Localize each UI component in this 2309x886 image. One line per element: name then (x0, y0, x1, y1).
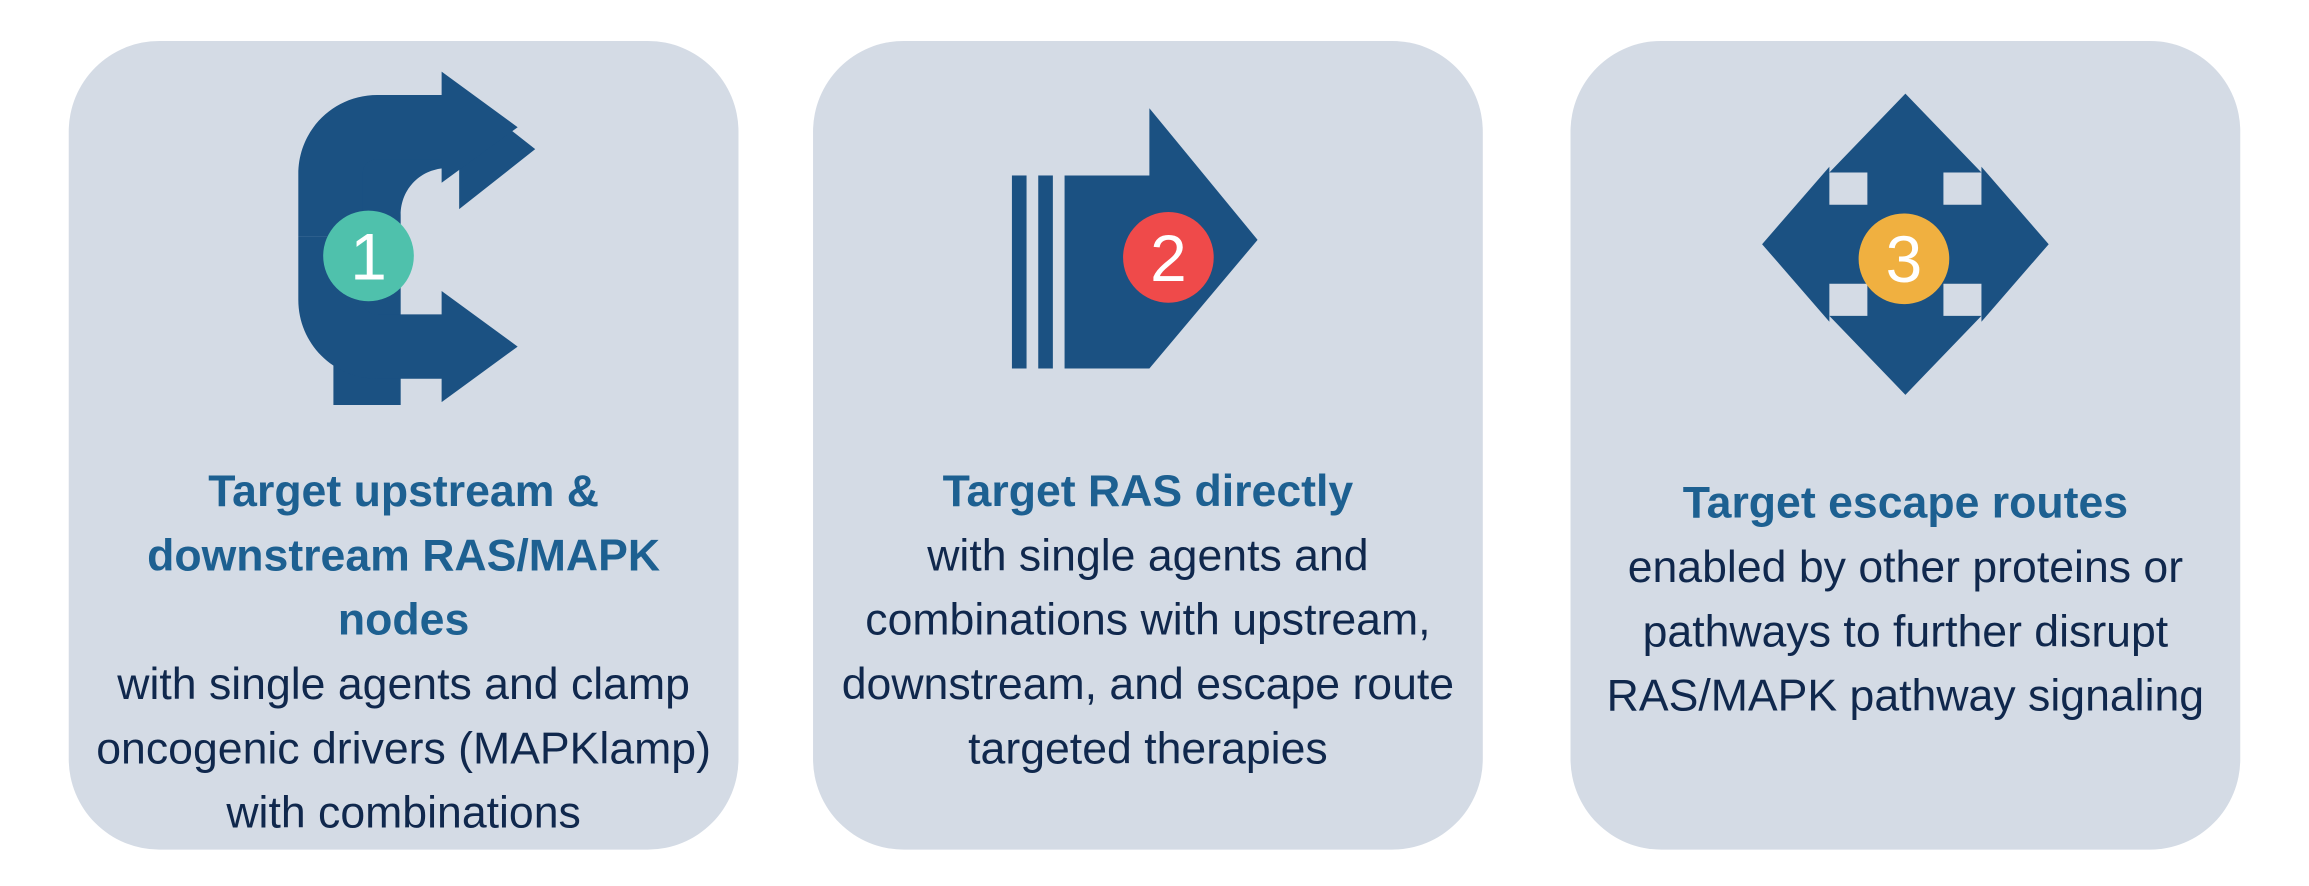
strategy-card-2: 2 Target RAS directly with single agents… (813, 41, 1483, 850)
card-3-body-line-2: pathways to further disrupt (1582, 600, 2228, 664)
card-2-body-line-2: combinations with upstream, (825, 588, 1471, 652)
card-2-text-block: Target RAS directly with single agents a… (813, 459, 1483, 781)
card-2-body-line-1: with single agents and (825, 524, 1471, 588)
card-2-body-line-4: targeted therapies (825, 717, 1471, 781)
card-1-step-number: 1 (350, 223, 387, 289)
card-1-body-line-1: with single agents and clamp (80, 652, 726, 716)
card-1-body-line-2: oncogenic drivers (MAPKlamp) (80, 717, 726, 781)
card-3-body-line-3: RAS/MAPK pathway signaling (1582, 664, 2228, 728)
strategy-card-3: 3 Target escape routes enabled by other … (1571, 41, 2241, 850)
card-3-body-line-1: enabled by other proteins or (1582, 535, 2228, 599)
card-3-text-block: Target escape routes enabled by other pr… (1571, 471, 2241, 728)
card-3-icon-area: 3 (1571, 41, 2241, 448)
card-1-step-badge: 1 (323, 211, 414, 302)
card-1-body-line-3: with combinations (80, 781, 726, 845)
strategy-card-1: 1 Target upstream & downstream RAS/MAPK … (69, 41, 739, 850)
strategy-cards-board: 1 Target upstream & downstream RAS/MAPK … (0, 0, 2309, 885)
card-2-step-badge: 2 (1123, 212, 1214, 303)
card-2-body-line-3: downstream, and escape route (825, 652, 1471, 716)
card-1-headline-line-1: Target upstream & (80, 459, 726, 523)
card-1-text-block: Target upstream & downstream RAS/MAPK no… (69, 459, 739, 845)
card-2-icon-area: 2 (813, 41, 1483, 433)
card-2-headline-line-1: Target RAS directly (825, 459, 1471, 523)
card-1-headline-line-2: downstream RAS/MAPK nodes (80, 524, 726, 653)
card-2-step-number: 2 (1150, 224, 1187, 290)
card-1-icon-area: 1 (69, 41, 739, 433)
card-3-step-number: 3 (1886, 226, 1923, 292)
card-3-step-badge: 3 (1859, 213, 1950, 304)
card-3-headline-line-1: Target escape routes (1582, 471, 2228, 535)
